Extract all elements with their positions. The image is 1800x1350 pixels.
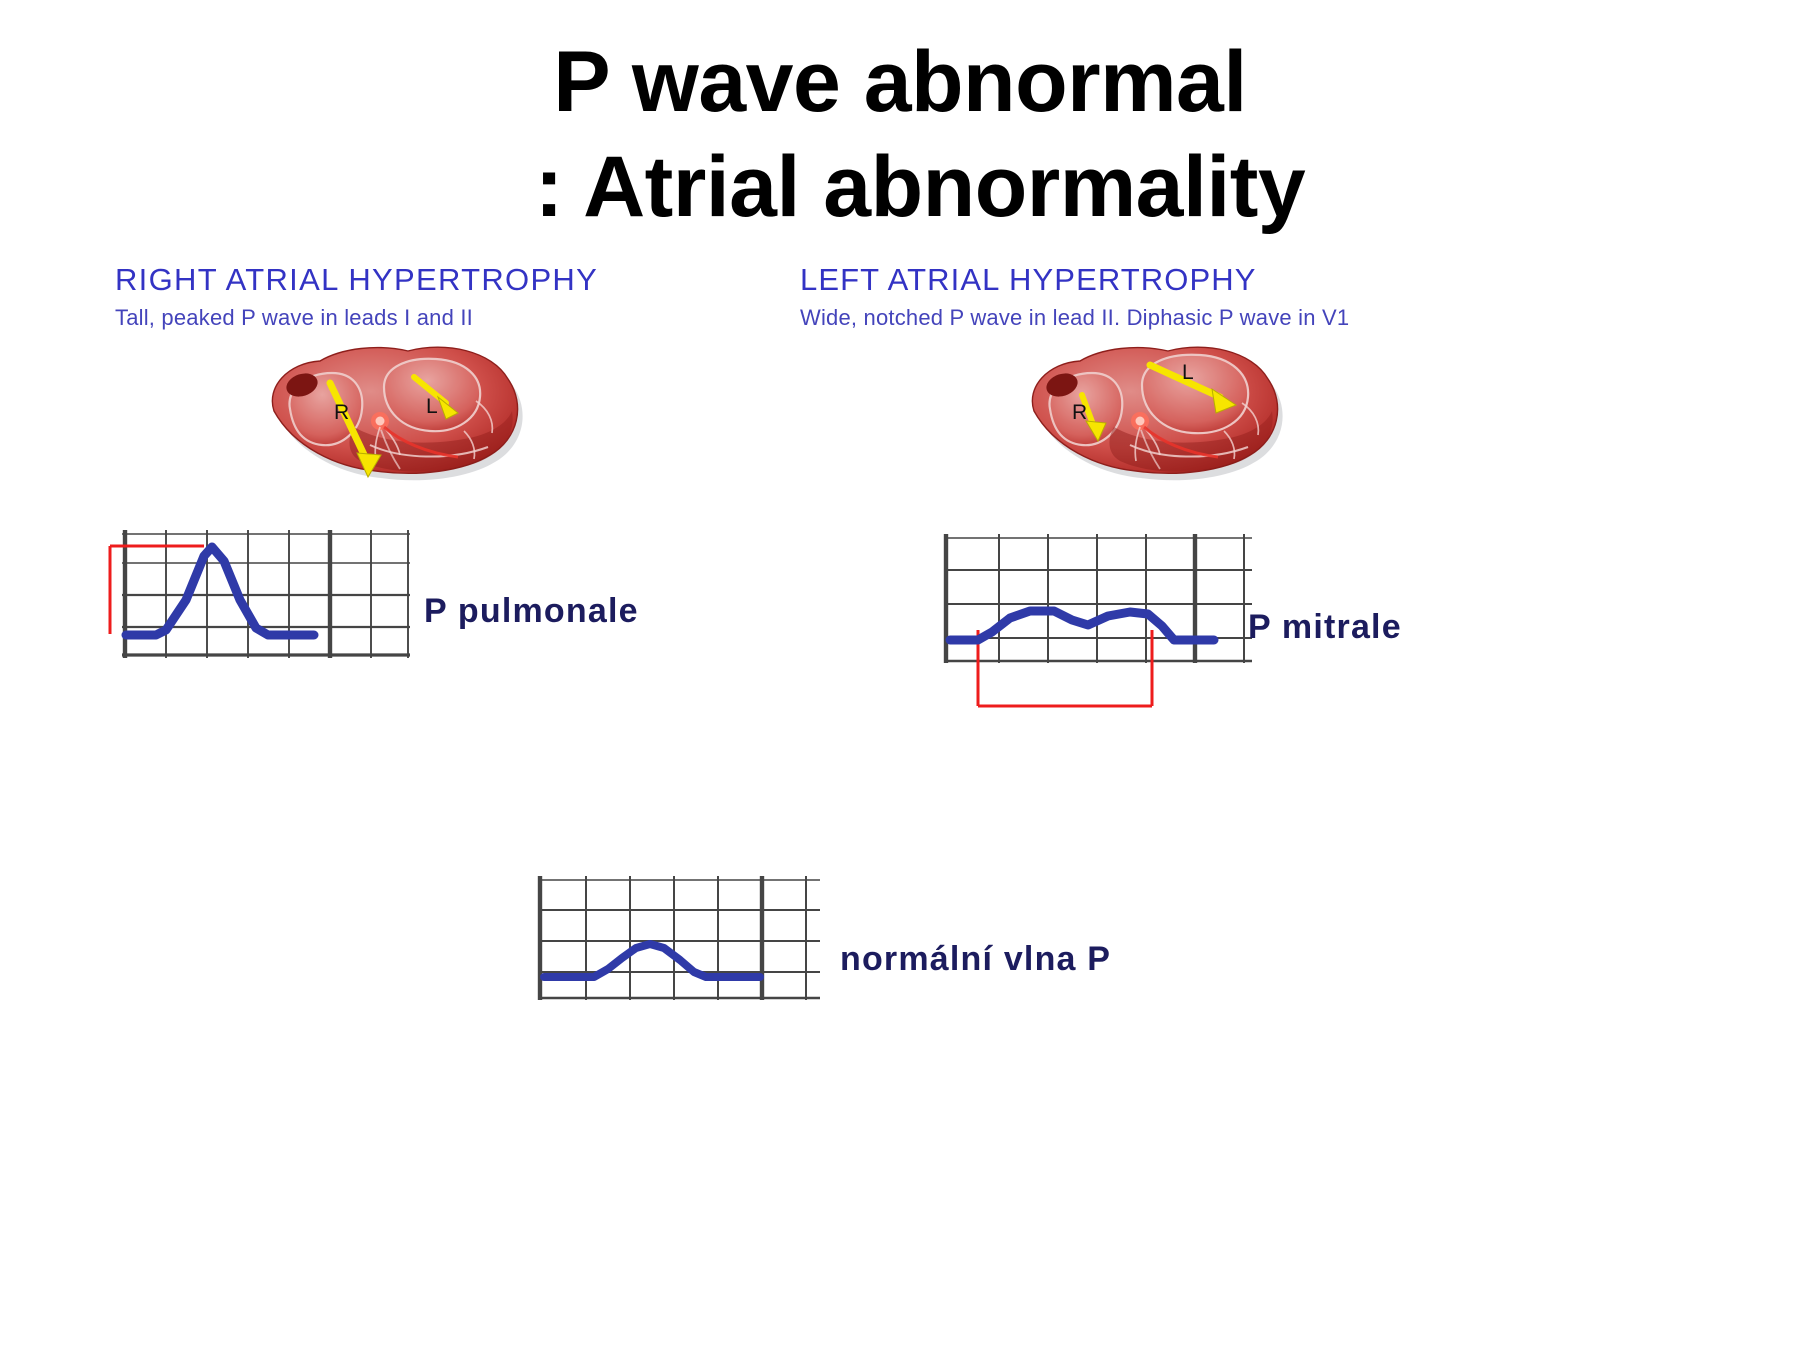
heart-diagram-right-atrial: R L — [250, 335, 540, 485]
heart-label-right: R — [1072, 401, 1087, 424]
duration-marker-bracket — [978, 630, 1152, 706]
heart-illustration-svg: R L — [250, 335, 540, 485]
ecg-grid-svg — [930, 530, 1260, 720]
heart-label-left: L — [426, 395, 438, 418]
title-line-2: : Atrial abnormality — [0, 135, 1800, 240]
av-node-core — [376, 417, 385, 426]
ecg-strip-p-pulmonale — [100, 518, 420, 668]
left-atrial-hypertrophy-heading-block: LEFT ATRIAL HYPERTROPHY Wide, notched P … — [800, 262, 1349, 331]
ecg-grid-svg — [530, 868, 830, 1028]
ecg-vertical-gridlines — [540, 876, 806, 1000]
right-atrial-hypertrophy-subtitle: Tall, peaked P wave in leads I and II — [115, 305, 598, 331]
av-node-core — [1136, 417, 1145, 426]
heart-label-right: R — [334, 401, 349, 424]
ecg-grid-svg — [100, 518, 420, 668]
p-wave-trace — [950, 611, 1214, 640]
p-wave-trace — [126, 547, 314, 635]
p-pulmonale-label: P pulmonale — [424, 592, 639, 631]
p-mitrale-label: P mitrale — [1248, 608, 1402, 647]
ecg-strip-normal-p-wave — [530, 868, 830, 1028]
title-line-1: P wave abnormal — [0, 30, 1800, 135]
heart-label-left: L — [1182, 361, 1194, 384]
right-atrial-hypertrophy-title: RIGHT ATRIAL HYPERTROPHY — [115, 262, 598, 298]
normal-p-wave-label: normální vlna P — [840, 940, 1111, 979]
right-atrial-hypertrophy-heading-block: RIGHT ATRIAL HYPERTROPHY Tall, peaked P … — [115, 262, 598, 331]
left-atrial-hypertrophy-subtitle: Wide, notched P wave in lead II. Diphasi… — [800, 305, 1349, 331]
heart-diagram-left-atrial: R L — [1010, 335, 1300, 485]
heart-illustration-svg: R L — [1010, 335, 1300, 485]
ecg-strip-p-mitrale — [930, 530, 1260, 720]
page-title: P wave abnormal : Atrial abnormality — [0, 30, 1800, 240]
left-atrial-hypertrophy-title: LEFT ATRIAL HYPERTROPHY — [800, 262, 1349, 298]
